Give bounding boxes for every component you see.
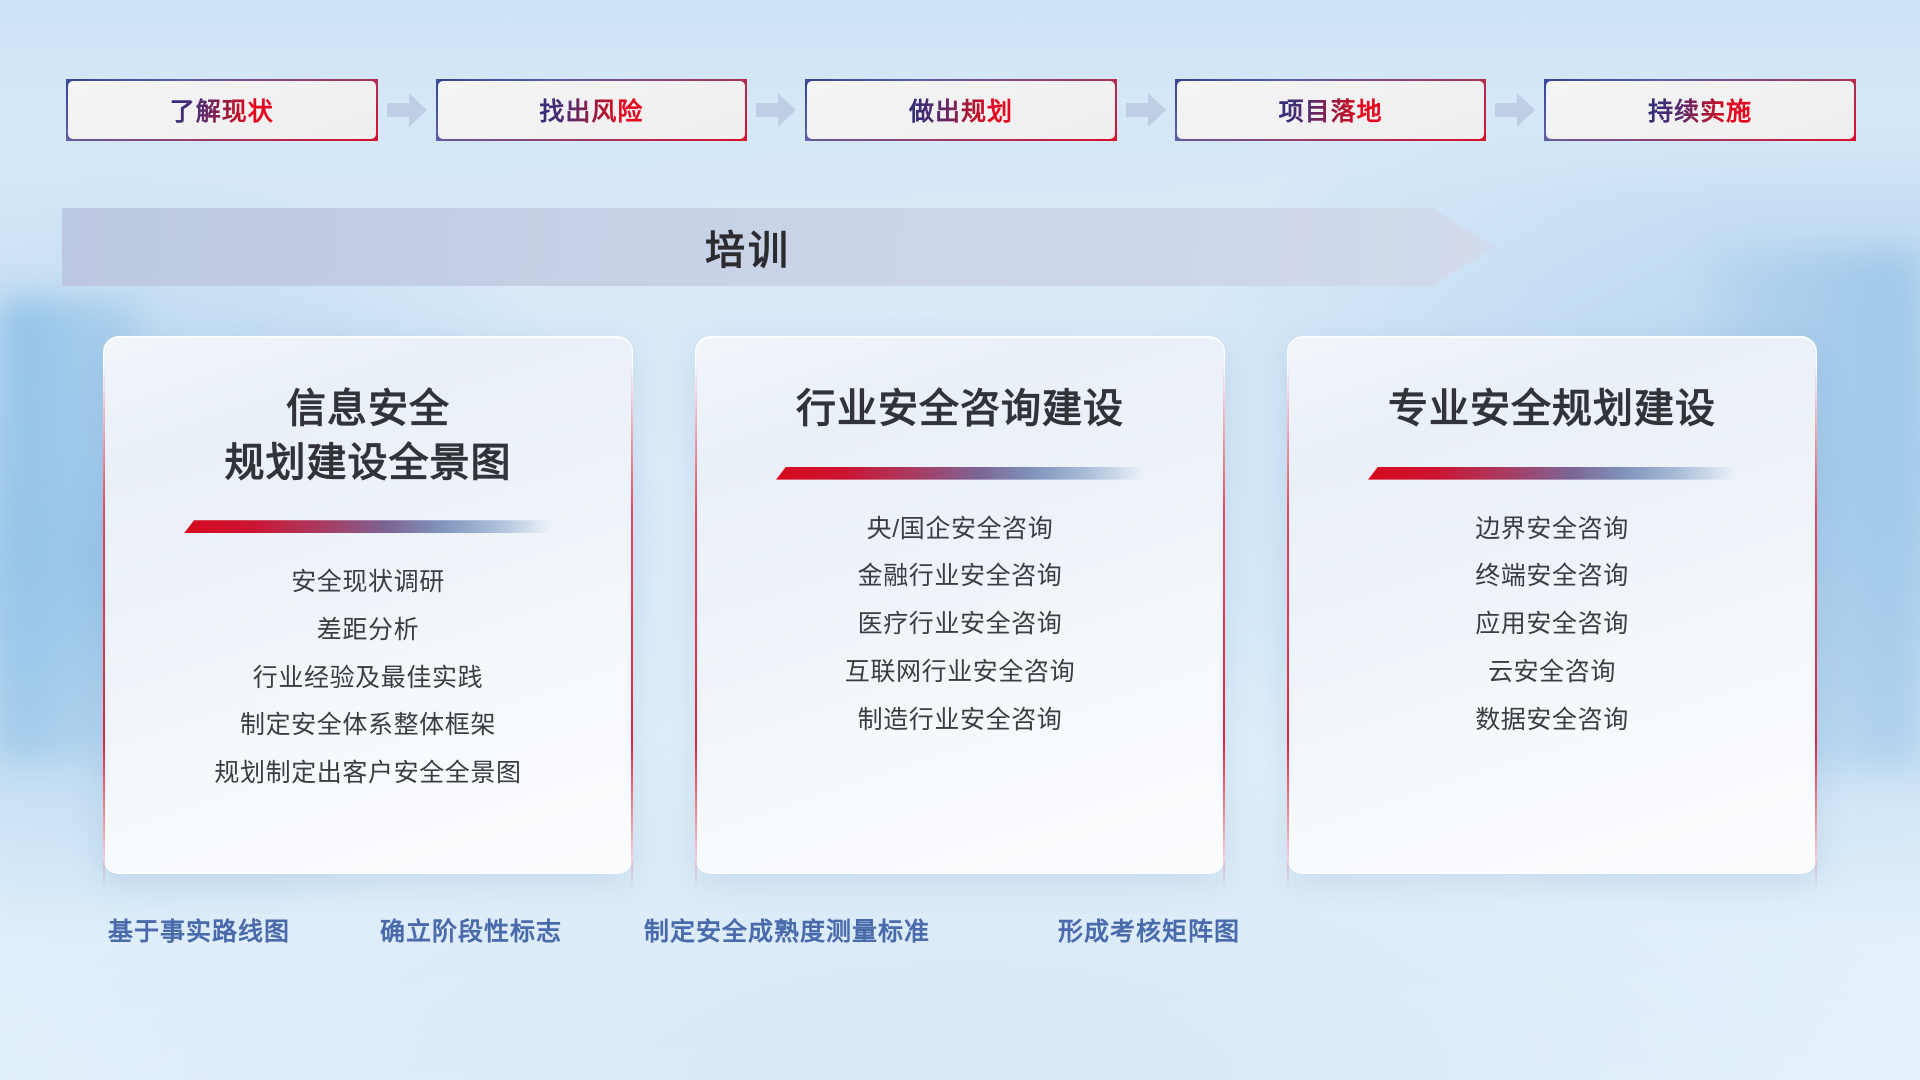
arrow-right-icon	[1495, 93, 1535, 127]
card-list-item[interactable]: 金融行业安全咨询	[858, 557, 1063, 596]
card-title-line: 规划建设全景图	[225, 437, 512, 491]
card-title-line: 专业安全规划建设	[1388, 383, 1716, 437]
card-title-line: 信息安全	[225, 383, 512, 437]
step-arrow-4	[1486, 88, 1544, 132]
arrow-right-icon	[387, 93, 427, 127]
footer-label-1: 基于事实路线图	[108, 912, 290, 948]
card-list-item[interactable]: 医疗行业安全咨询	[858, 605, 1063, 644]
training-banner: 培训	[62, 208, 1494, 286]
step-box-2[interactable]: 找出风险	[436, 79, 748, 141]
card-list-item[interactable]: 行业经验及最佳实践	[253, 659, 483, 698]
step-label: 找出风险	[539, 92, 643, 128]
step-box-4[interactable]: 项目落地	[1175, 79, 1487, 141]
card-list-item[interactable]: 边界安全咨询	[1475, 510, 1629, 549]
card-item-list: 安全现状调研差距分析行业经验及最佳实践制定安全体系整体框架规划制定出客户安全全景…	[214, 563, 521, 793]
step-box-3[interactable]: 做出规划	[805, 79, 1117, 141]
step-box-1[interactable]: 了解现状	[66, 79, 378, 141]
card-divider	[776, 467, 1144, 480]
footer-label-3: 制定安全成熟度测量标准	[644, 912, 930, 948]
service-card-2[interactable]: 行业安全咨询建设央/国企安全咨询金融行业安全咨询医疗行业安全咨询互联网行业安全咨…	[695, 336, 1225, 874]
card-divider	[1368, 467, 1736, 480]
card-list-item[interactable]: 互联网行业安全咨询	[845, 653, 1075, 692]
card-accent-edge-left	[1287, 363, 1289, 891]
card-list-item[interactable]: 云安全咨询	[1488, 653, 1616, 692]
step-label: 持续实施	[1648, 92, 1752, 128]
card-title: 行业安全咨询建设	[772, 383, 1148, 437]
card-list-item[interactable]: 规划制定出客户安全全景图	[214, 754, 521, 793]
step-arrow-1	[378, 88, 436, 132]
process-step-flow: 了解现状找出风险做出规划项目落地持续实施	[66, 78, 1856, 142]
card-item-list: 央/国企安全咨询金融行业安全咨询医疗行业安全咨询互联网行业安全咨询制造行业安全咨…	[845, 510, 1075, 740]
card-list-item[interactable]: 安全现状调研	[291, 563, 445, 602]
card-list-item[interactable]: 数据安全咨询	[1475, 701, 1629, 740]
card-title: 专业安全规划建设	[1364, 383, 1740, 437]
card-item-list: 边界安全咨询终端安全咨询应用安全咨询云安全咨询数据安全咨询	[1475, 510, 1629, 740]
step-label: 了解现状	[170, 92, 274, 128]
card-divider	[184, 520, 552, 533]
step-label: 做出规划	[909, 92, 1013, 128]
footer-label-group: 基于事实路线图确立阶段性标志制定安全成熟度测量标准形成考核矩阵图	[0, 912, 1920, 962]
footer-label-4: 形成考核矩阵图	[1058, 912, 1240, 948]
card-title: 信息安全规划建设全景图	[201, 383, 536, 490]
service-card-1[interactable]: 信息安全规划建设全景图安全现状调研差距分析行业经验及最佳实践制定安全体系整体框架…	[103, 336, 633, 874]
card-list-item[interactable]: 制造行业安全咨询	[858, 701, 1063, 740]
card-accent-edge-right	[1815, 363, 1817, 891]
card-list-item[interactable]: 制定安全体系整体框架	[240, 706, 496, 745]
step-box-5[interactable]: 持续实施	[1544, 79, 1856, 141]
card-list-item[interactable]: 终端安全咨询	[1475, 557, 1629, 596]
card-accent-edge-right	[631, 363, 633, 891]
step-arrow-3	[1117, 88, 1175, 132]
card-list-item[interactable]: 应用安全咨询	[1475, 605, 1629, 644]
card-list-item[interactable]: 央/国企安全咨询	[867, 510, 1054, 549]
card-list-item[interactable]: 差距分析	[317, 611, 419, 650]
banner-title: 培训	[62, 208, 1494, 286]
step-arrow-2	[747, 88, 805, 132]
card-accent-edge-left	[695, 363, 697, 891]
step-label: 项目落地	[1279, 92, 1383, 128]
arrow-right-icon	[756, 93, 796, 127]
footer-label-2: 确立阶段性标志	[380, 912, 562, 948]
service-card-3[interactable]: 专业安全规划建设边界安全咨询终端安全咨询应用安全咨询云安全咨询数据安全咨询	[1287, 336, 1817, 874]
card-title-line: 行业安全咨询建设	[796, 383, 1124, 437]
card-accent-edge-right	[1223, 363, 1225, 891]
arrow-right-icon	[1126, 93, 1166, 127]
card-accent-edge-left	[103, 363, 105, 891]
service-card-group: 信息安全规划建设全景图安全现状调研差距分析行业经验及最佳实践制定安全体系整体框架…	[0, 336, 1920, 876]
